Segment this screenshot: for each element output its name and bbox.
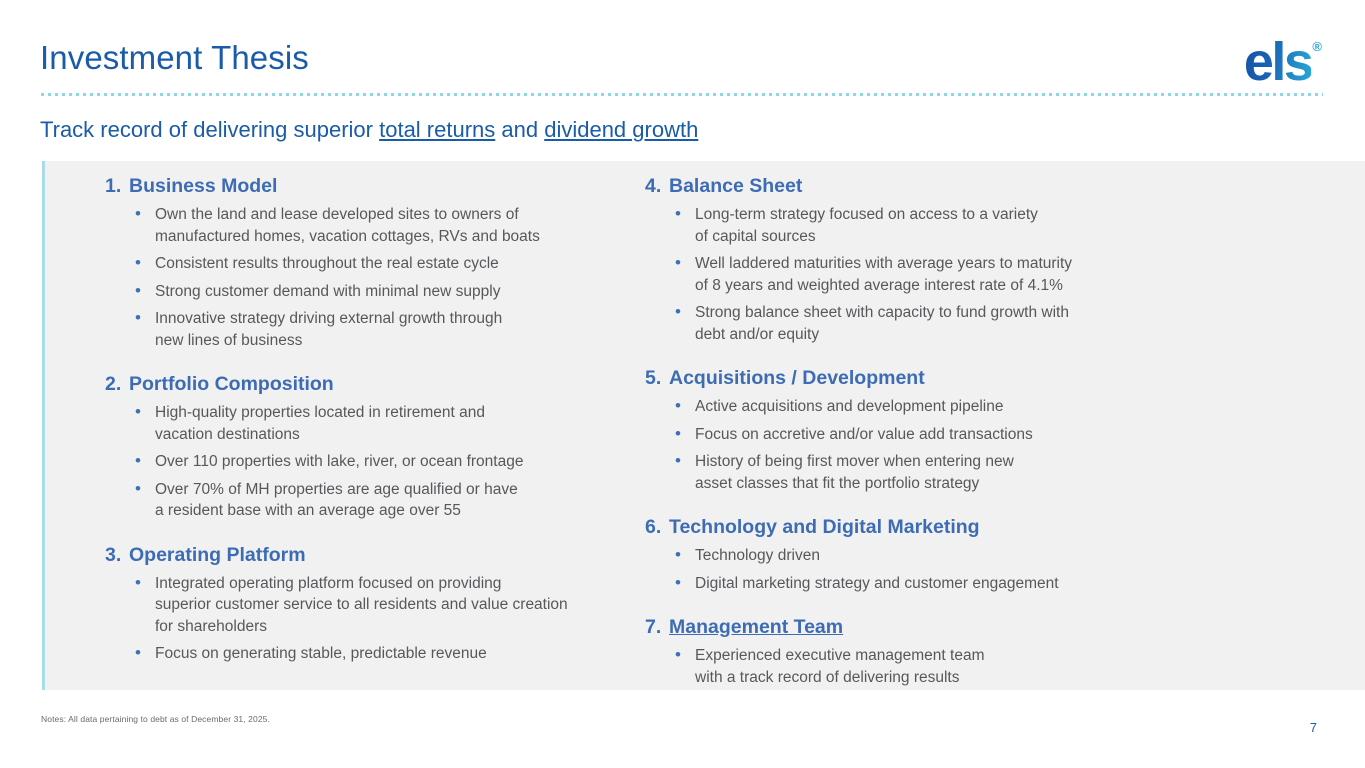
- footnote: Notes: All data pertaining to debt as of…: [41, 713, 270, 725]
- bullet-list: Integrated operating platform focused on…: [105, 573, 645, 665]
- bullet-line: Experienced executive management team: [695, 645, 1305, 667]
- bullet-item: Over 70% of MH properties are age qualif…: [133, 479, 645, 522]
- subtitle-link-dividend-growth[interactable]: dividend growth: [544, 117, 698, 142]
- bullet-item: Experienced executive management teamwit…: [673, 645, 1305, 688]
- bullet-line: Technology driven: [695, 545, 1305, 567]
- bullet-item: Long-term strategy focused on access to …: [673, 204, 1305, 247]
- section-business-model: 1.Business ModelOwn the land and lease d…: [105, 173, 645, 351]
- bullet-line: Over 70% of MH properties are age qualif…: [155, 479, 645, 501]
- section-number: 3.: [105, 542, 129, 568]
- section-title-management-team[interactable]: Management Team: [669, 614, 843, 640]
- subtitle-link-total-returns[interactable]: total returns: [379, 117, 495, 142]
- bullet-line: of capital sources: [695, 226, 1305, 248]
- bullet-item: Own the land and lease developed sites t…: [133, 204, 645, 247]
- page-title: Investment Thesis: [40, 38, 309, 78]
- bullet-item: Integrated operating platform focused on…: [133, 573, 645, 638]
- section-technology-and-digital-marketing: 6.Technology and Digital MarketingTechno…: [645, 514, 1305, 594]
- section-heading-acquisitions-development: 5.Acquisitions / Development: [645, 365, 1305, 391]
- section-number: 2.: [105, 371, 129, 397]
- section-heading-portfolio-composition: 2.Portfolio Composition: [105, 371, 645, 397]
- registered-trademark-icon: ®: [1312, 39, 1322, 54]
- bullet-item: Digital marketing strategy and customer …: [673, 573, 1305, 595]
- bullet-line: Over 110 properties with lake, river, or…: [155, 451, 645, 473]
- bullet-line: for shareholders: [155, 616, 645, 638]
- bullet-list: High-quality properties located in retir…: [105, 402, 645, 522]
- bullet-list: Technology drivenDigital marketing strat…: [645, 545, 1305, 594]
- section-number: 6.: [645, 514, 669, 540]
- section-portfolio-composition: 2.Portfolio CompositionHigh-quality prop…: [105, 371, 645, 522]
- subtitle-text-part2: and: [495, 117, 544, 142]
- bullet-item: Active acquisitions and development pipe…: [673, 396, 1305, 418]
- slide-subtitle: Track record of delivering superior tota…: [40, 115, 698, 145]
- page-number: 7: [1310, 720, 1317, 735]
- section-number: 4.: [645, 173, 669, 199]
- section-title-acquisitions-development: Acquisitions / Development: [669, 365, 925, 391]
- bullet-list: Experienced executive management teamwit…: [645, 645, 1305, 688]
- section-title-balance-sheet: Balance Sheet: [669, 173, 802, 199]
- bullet-line: Focus on generating stable, predictable …: [155, 643, 645, 665]
- section-heading-business-model: 1.Business Model: [105, 173, 645, 199]
- bullet-line: Integrated operating platform focused on…: [155, 573, 645, 595]
- bullet-line: High-quality properties located in retir…: [155, 402, 645, 424]
- section-acquisitions-development: 5.Acquisitions / DevelopmentActive acqui…: [645, 365, 1305, 494]
- section-balance-sheet: 4.Balance SheetLong-term strategy focuse…: [645, 173, 1305, 345]
- bullet-line: Focus on accretive and/or value add tran…: [695, 424, 1305, 446]
- section-heading-operating-platform: 3.Operating Platform: [105, 542, 645, 568]
- bullet-item: Innovative strategy driving external gro…: [133, 308, 645, 351]
- bullet-line: Long-term strategy focused on access to …: [695, 204, 1305, 226]
- bullet-item: Strong customer demand with minimal new …: [133, 281, 645, 303]
- section-title-portfolio-composition: Portfolio Composition: [129, 371, 334, 397]
- bullet-line: with a track record of delivering result…: [695, 667, 1305, 689]
- bullet-item: Technology driven: [673, 545, 1305, 567]
- bullet-line: Innovative strategy driving external gro…: [155, 308, 645, 330]
- section-number: 7.: [645, 614, 669, 640]
- bullet-line: Own the land and lease developed sites t…: [155, 204, 645, 226]
- section-heading-technology-and-digital-marketing: 6.Technology and Digital Marketing: [645, 514, 1305, 540]
- bullet-item: High-quality properties located in retir…: [133, 402, 645, 445]
- els-logo: els ®: [1244, 35, 1322, 87]
- bullet-line: Active acquisitions and development pipe…: [695, 396, 1305, 418]
- bullet-line: Well laddered maturities with average ye…: [695, 253, 1305, 275]
- bullet-item: Well laddered maturities with average ye…: [673, 253, 1305, 296]
- bullet-item: Consistent results throughout the real e…: [133, 253, 645, 275]
- section-title-operating-platform: Operating Platform: [129, 542, 306, 568]
- section-operating-platform: 3.Operating PlatformIntegrated operating…: [105, 542, 645, 665]
- logo-wordmark: els: [1244, 35, 1312, 89]
- bullet-list: Long-term strategy focused on access to …: [645, 204, 1305, 345]
- bullet-line: Strong customer demand with minimal new …: [155, 281, 645, 303]
- header-dotted-divider: [41, 93, 1323, 96]
- section-heading-management-team: 7.Management Team: [645, 614, 1305, 640]
- bullet-item: History of being first mover when enteri…: [673, 451, 1305, 494]
- bullet-item: Focus on accretive and/or value add tran…: [673, 424, 1305, 446]
- bullet-line: new lines of business: [155, 330, 645, 352]
- subtitle-text-part1: Track record of delivering superior: [40, 117, 379, 142]
- section-title-technology-and-digital-marketing: Technology and Digital Marketing: [669, 514, 980, 540]
- section-number: 1.: [105, 173, 129, 199]
- bullet-line: Strong balance sheet with capacity to fu…: [695, 302, 1305, 324]
- bullet-line: superior customer service to all residen…: [155, 594, 645, 616]
- bullet-list: Active acquisitions and development pipe…: [645, 396, 1305, 494]
- section-heading-balance-sheet: 4.Balance Sheet: [645, 173, 1305, 199]
- bullet-line: of 8 years and weighted average interest…: [695, 275, 1305, 297]
- bullet-line: debt and/or equity: [695, 324, 1305, 346]
- bullet-line: Consistent results throughout the real e…: [155, 253, 645, 275]
- bullet-line: vacation destinations: [155, 424, 645, 446]
- bullet-line: History of being first mover when enteri…: [695, 451, 1305, 473]
- bullet-line: manufactured homes, vacation cottages, R…: [155, 226, 645, 248]
- bullet-item: Focus on generating stable, predictable …: [133, 643, 645, 665]
- section-title-business-model: Business Model: [129, 173, 277, 199]
- bullet-list: Own the land and lease developed sites t…: [105, 204, 645, 351]
- section-number: 5.: [645, 365, 669, 391]
- bullet-item: Strong balance sheet with capacity to fu…: [673, 302, 1305, 345]
- left-column: 1.Business ModelOwn the land and lease d…: [45, 161, 645, 690]
- slide-header: Investment Thesis els ®: [0, 0, 1365, 100]
- bullet-line: asset classes that fit the portfolio str…: [695, 473, 1305, 495]
- bullet-line: Digital marketing strategy and customer …: [695, 573, 1305, 595]
- bullet-item: Over 110 properties with lake, river, or…: [133, 451, 645, 473]
- section-management-team: 7.Management TeamExperienced executive m…: [645, 614, 1305, 688]
- right-column: 4.Balance SheetLong-term strategy focuse…: [645, 161, 1305, 690]
- bullet-line: a resident base with an average age over…: [155, 500, 645, 522]
- content-panel: 1.Business ModelOwn the land and lease d…: [42, 161, 1365, 690]
